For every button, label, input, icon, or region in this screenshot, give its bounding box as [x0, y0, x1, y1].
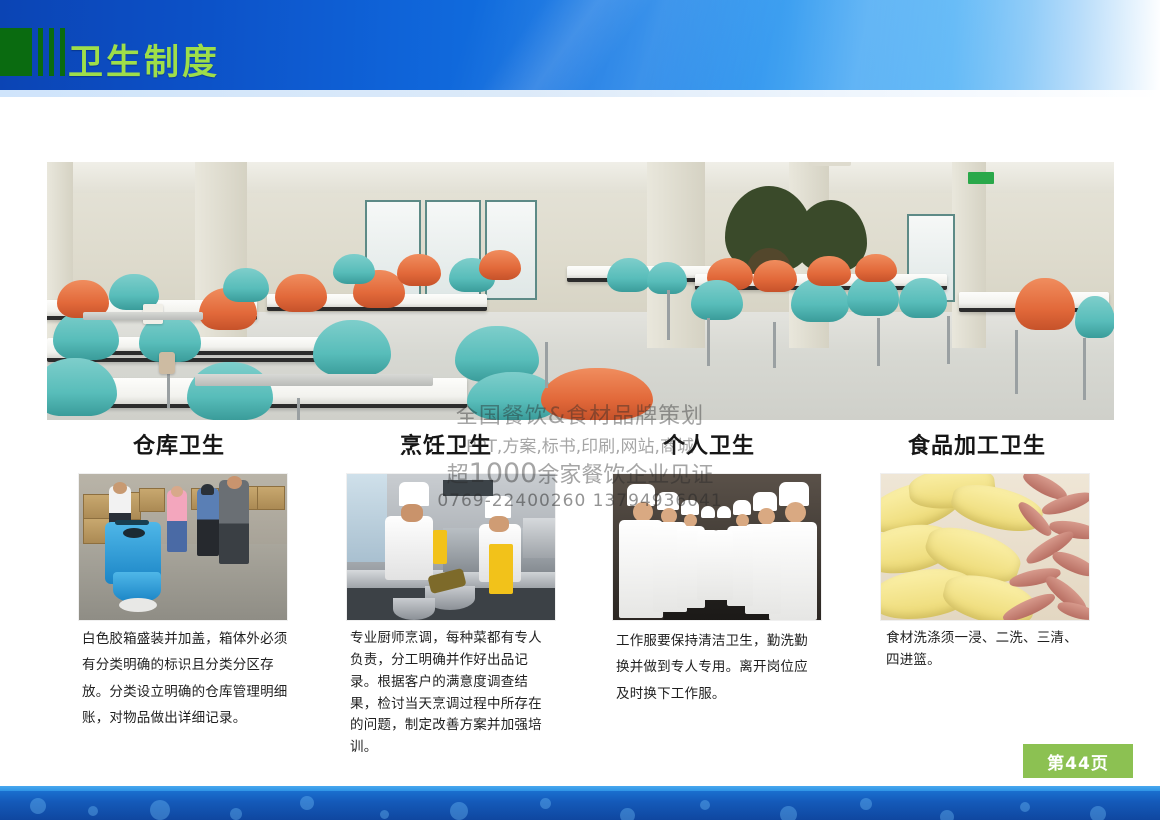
section-image-cooking	[347, 474, 555, 620]
page-title: 卫生制度	[68, 34, 220, 85]
section-image-personal-hygiene	[613, 474, 821, 620]
section-title-food-processing: 食品加工卫生	[908, 428, 1046, 460]
section-text-cooking: 专业厨师烹调，每种菜都有专人负责，分工明确并作好出品记录。根据客户的满意度调查结…	[350, 628, 555, 759]
exit-sign-icon	[968, 172, 994, 184]
section-title-warehouse: 仓库卫生	[133, 428, 225, 460]
section-image-warehouse	[79, 474, 287, 620]
section-text-food-processing: 食材洗涤须一浸、二洗、三清、四进篮。	[886, 628, 1086, 672]
section-title-personal: 个人卫生	[663, 428, 755, 460]
page-number-badge: 第44页	[1023, 744, 1133, 778]
section-text-personal: 工作服要保持清洁卫生，勤洗勤换并做到专人专用。离开岗位应及时换下工作服。	[616, 628, 821, 707]
section-text-warehouse: 白色胶箱盛装并加盖，箱体外必须有分类明确的标识且分类分区存放。分类设立明确的仓库…	[82, 626, 297, 731]
green-bar-mark-icon	[0, 28, 65, 76]
slide-header: 卫生制度	[0, 0, 1160, 90]
hero-image-cafeteria	[47, 162, 1114, 420]
slide-root: 卫生制度	[0, 0, 1160, 820]
header-underline	[0, 90, 1160, 97]
section-title-cooking: 烹饪卫生	[400, 428, 492, 460]
slide-footer	[0, 786, 1160, 820]
header-sheen	[226, 0, 895, 90]
section-image-food-processing	[881, 474, 1089, 620]
